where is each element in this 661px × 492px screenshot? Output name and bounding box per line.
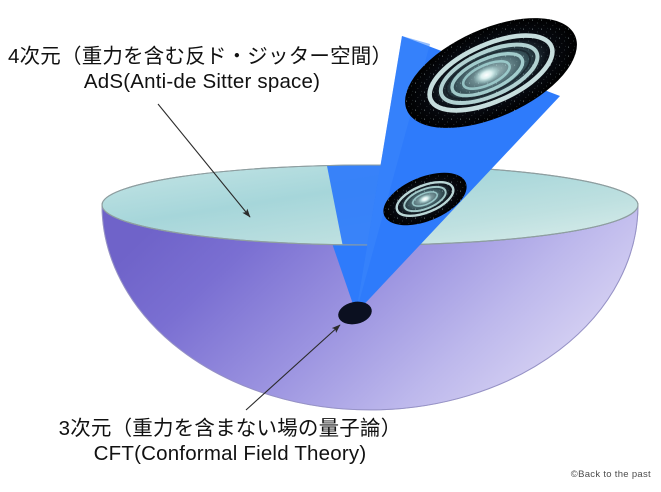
label-ads-english: AdS(Anti-de Sitter space) — [8, 71, 388, 94]
label-ads-4d: 4次元（重力を含む反ド・ジッター空間） AdS(Anti-de Sitter s… — [8, 46, 388, 94]
label-cft-english: CFT(Conformal Field Theory) — [40, 443, 420, 466]
label-cft-3d: 3次元（重力を含まない場の量子論） CFT(Conformal Field Th… — [40, 418, 420, 466]
label-cft-japanese: 3次元（重力を含まない場の量子論） — [40, 418, 420, 441]
galaxy-large-content — [392, 16, 592, 130]
label-ads-japanese: 4次元（重力を含む反ド・ジッター空間） — [8, 46, 388, 69]
figure-canvas: 4次元（重力を含む反ド・ジッター空間） AdS(Anti-de Sitter s… — [0, 0, 661, 492]
credit-text: ©Back to the past — [571, 469, 651, 480]
